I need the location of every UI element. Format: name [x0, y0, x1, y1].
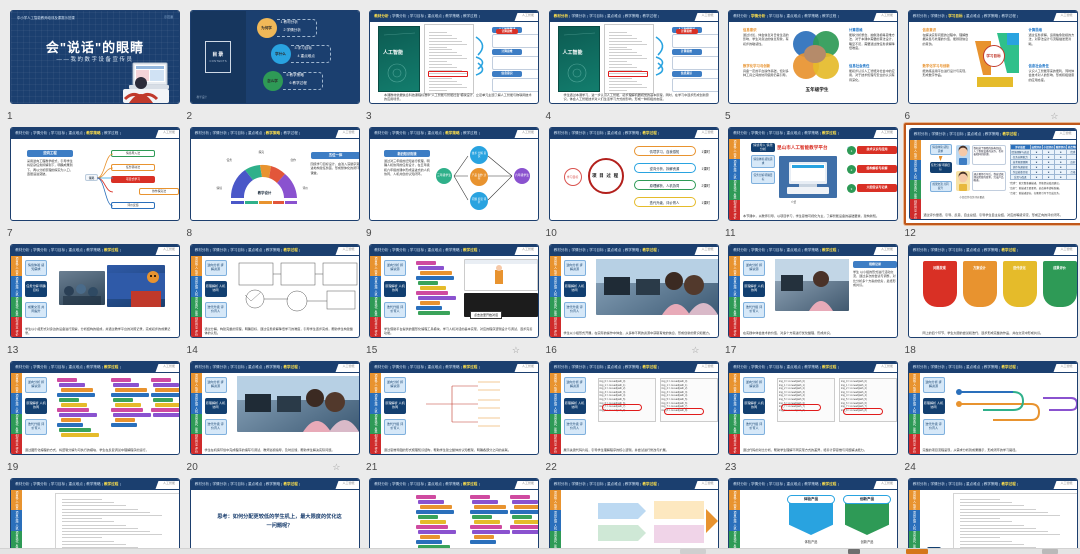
- tab-2[interactable]: 学习目标: [229, 132, 247, 136]
- scratch-block-far-2[interactable]: [155, 388, 180, 392]
- two-card-1[interactable]: [845, 501, 889, 535]
- tab-3[interactable]: 重点难点: [67, 132, 85, 136]
- tab-3[interactable]: 重点难点: [606, 483, 624, 487]
- tab-1[interactable]: 学情分析: [391, 15, 409, 19]
- tab-4[interactable]: 教学策略: [85, 132, 103, 136]
- tab-3[interactable]: 重点难点: [67, 249, 85, 253]
- slide-cell-3[interactable]: 教材分析学情分析学习目标重点难点教学策略教学过程人工智能人工智能人工智能概述计算…: [365, 6, 543, 124]
- platform-side-card-2[interactable]: 大胆尝试与记录: [857, 184, 897, 192]
- tab-2[interactable]: 学习目标: [409, 15, 427, 19]
- slide-cell-28[interactable]: 教材分析学情分析学习目标重点难点教学策略教学过程人工智能项目导入 情景分析项目实…: [545, 474, 723, 554]
- stage-card-1[interactable]: 原理解析 人机协同: [564, 398, 586, 414]
- toc-bubble-2[interactable]: 怎么学: [263, 71, 283, 91]
- tab-4[interactable]: 教学策略: [803, 483, 821, 487]
- project-row-3[interactable]: 迭代升级，评价育人: [634, 197, 696, 207]
- tab-1[interactable]: 学情分析: [750, 249, 768, 253]
- tab-0[interactable]: 教材分析: [194, 483, 212, 487]
- scratch-block-far-4[interactable]: [512, 515, 532, 519]
- slide-cell-8[interactable]: 教材分析学情分析学习目标重点难点教学策略教学过程人工智能教学设计情境任务探究创作…: [186, 123, 364, 241]
- scratch-block-right-8[interactable]: [474, 535, 494, 539]
- tab-4[interactable]: 教学策略: [265, 249, 283, 253]
- tab-0[interactable]: 教材分析: [14, 483, 32, 487]
- tab-1[interactable]: 学情分析: [929, 249, 947, 253]
- tab-2[interactable]: 学习目标: [768, 483, 786, 487]
- stage-rail-item-3[interactable]: 创作共享 评价育人: [11, 434, 22, 454]
- four-card-2[interactable]: 迭代优化: [1003, 261, 1037, 307]
- tab-1[interactable]: 学情分析: [929, 15, 947, 19]
- dialog-stage-third[interactable]: 成果交流 共同提升: [930, 181, 952, 192]
- stage-rail-item-2[interactable]: 项目迭代 反思升华: [191, 297, 202, 317]
- stage-card-2[interactable]: 迭代升级 评价育人: [923, 419, 945, 435]
- tab-2[interactable]: 学习目标: [588, 132, 606, 136]
- tab-0[interactable]: 教材分析: [732, 132, 750, 136]
- tab-5[interactable]: 教学过程: [1000, 15, 1018, 19]
- stage-rail-item-2[interactable]: 项目迭代 反思升华: [550, 297, 561, 317]
- slide-thumbnail-19[interactable]: 教材分析学情分析学习目标重点难点教学策略教学过程人工智能项目导入 情景分析项目实…: [6, 357, 184, 459]
- textbook-callout-2[interactable]: 信息意识: [492, 71, 522, 77]
- stage-rail-item-3[interactable]: 创作共享 评价育人: [909, 434, 920, 454]
- stage-rail-item-2[interactable]: 项目迭代 反思升华: [370, 297, 381, 317]
- stage-card-0[interactable]: 逆向分析 拆解资源: [205, 260, 227, 276]
- tab-3[interactable]: 重点难点: [606, 366, 624, 370]
- tab-4[interactable]: 教学策略: [984, 133, 1002, 137]
- tab-1[interactable]: 学情分析: [211, 249, 229, 253]
- scratch-block-8[interactable]: [420, 301, 440, 305]
- scratch-block-2[interactable]: [61, 388, 93, 392]
- tab-4[interactable]: 教学策略: [983, 483, 1001, 487]
- tab-2[interactable]: 学习目标: [229, 249, 247, 253]
- tab-1[interactable]: 学情分析: [32, 132, 50, 136]
- stage-rail-item-0[interactable]: 项目导入 情景分析: [729, 139, 740, 159]
- tab-4[interactable]: 教学策略: [265, 483, 283, 487]
- stage-card-0[interactable]: 逆向分析 拆解资源: [384, 377, 406, 393]
- stage-card-1[interactable]: 原理解析 人机协同: [743, 281, 765, 297]
- slide-cell-5[interactable]: 教材分析学情分析学习目标重点难点教学策略教学过程人工智能五年级学生信息意识通过讨…: [724, 6, 902, 124]
- stage-rail-item-2[interactable]: 项目迭代 反思升华: [550, 414, 561, 434]
- tab-2[interactable]: 学习目标: [409, 132, 427, 136]
- stage-rail-item-1[interactable]: 项目实施 人机协同: [370, 393, 381, 413]
- tab-5[interactable]: 教学过程: [821, 15, 839, 19]
- stage-rail-item-1[interactable]: 项目实施 人机协同: [729, 159, 740, 179]
- scratch-block-8[interactable]: [61, 418, 81, 422]
- mind-node-4[interactable]: 评价反馈: [111, 202, 155, 209]
- stage-rail-item-1[interactable]: 项目实施 人机协同: [550, 393, 561, 413]
- toc-bubble-1[interactable]: 学什么: [271, 44, 291, 64]
- slide-thumbnail-22[interactable]: 教材分析学情分析学习目标重点难点教学策略教学过程人工智能项目导入 情景分析项目实…: [545, 357, 723, 459]
- scratch-block-10[interactable]: [59, 428, 91, 432]
- tab-4[interactable]: 教学策略: [265, 132, 283, 136]
- scratch-block-10[interactable]: [418, 311, 450, 315]
- slide-thumbnail-14[interactable]: 教材分析学情分析学习目标重点难点教学策略教学过程人工智能项目导入 情景分析项目实…: [186, 240, 364, 342]
- scratch-block-5[interactable]: [61, 403, 87, 407]
- scratch-block-2[interactable]: [420, 271, 452, 275]
- stage-card-0[interactable]: 逆向分析 拆解资源: [923, 377, 945, 393]
- tab-4[interactable]: 教学策略: [624, 483, 642, 487]
- tab-3[interactable]: 重点难点: [965, 249, 983, 253]
- tab-5[interactable]: 教学过程: [462, 366, 480, 370]
- stage-rail-item-2[interactable]: 项目迭代 反思升华: [370, 414, 381, 434]
- stage-card-2[interactable]: 迭代升级 评价育人: [743, 302, 765, 318]
- tab-3[interactable]: 重点难点: [426, 366, 444, 370]
- stage-rail-item-0[interactable]: 项目导入 情景分析: [11, 373, 22, 393]
- tab-0[interactable]: 教材分析: [194, 132, 212, 136]
- tab-3[interactable]: 重点难点: [785, 366, 803, 370]
- tab-1[interactable]: 学情分析: [929, 366, 947, 370]
- tab-5[interactable]: 教学过程: [103, 132, 121, 136]
- scratch-block-right-3[interactable]: [111, 393, 149, 397]
- slide-thumbnail-17[interactable]: 教材分析学情分析学习目标重点难点教学策略教学过程人工智能项目导入 情景分析项目实…: [724, 240, 902, 342]
- tab-0[interactable]: 教材分析: [553, 366, 571, 370]
- tab-4[interactable]: 教学策略: [983, 15, 1001, 19]
- tab-5[interactable]: 教学过程: [641, 132, 659, 136]
- tab-0[interactable]: 教材分析: [14, 249, 32, 253]
- scratch-block-0[interactable]: [57, 378, 77, 382]
- tab-4[interactable]: 教学策略: [85, 249, 103, 253]
- slide-thumbnail-7[interactable]: 教材分析学情分析学习目标重点难点教学策略教学过程人工智能逆向工程采用逆向工程教学…: [6, 123, 184, 225]
- slide-thumbnail-12[interactable]: 教材分析学情分析学习目标重点难点教学策略教学过程人工智能项目导入 情景分析项目实…: [904, 123, 1080, 225]
- mind-node-3[interactable]: 协作探究法: [139, 188, 179, 195]
- mind-node-0[interactable]: 情境导入法: [111, 150, 155, 157]
- slide-cell-10[interactable]: 教材分析学情分析学习目标重点难点教学策略教学过程人工智能学习目标项 目 过 程情…: [545, 123, 723, 241]
- tab-3[interactable]: 重点难点: [426, 483, 444, 487]
- tab-5[interactable]: 教学过程: [641, 15, 659, 19]
- slide-cell-22[interactable]: 教材分析学情分析学习目标重点难点教学策略教学过程人工智能项目导入 情景分析项目实…: [545, 357, 723, 475]
- stage-rail-item-0[interactable]: 项目导入 情景分析: [11, 490, 22, 510]
- project-row-1[interactable]: 逆向分析，拆解资源: [634, 163, 696, 173]
- slide-cell-1[interactable]: 中小学人工智能教师培训及课赛示范课示范课会"说话"的眼睛——我的数字设备宣传员1: [6, 6, 184, 124]
- four-card-1[interactable]: 方案设计: [963, 261, 997, 307]
- slide-thumbnail-1[interactable]: 中小学人工智能教师培训及课赛示范课示范课会"说话"的眼睛——我的数字设备宣传员: [6, 6, 184, 108]
- scratch-block-right-7[interactable]: [113, 413, 151, 417]
- star-icon[interactable]: ☆: [332, 463, 340, 472]
- tab-3[interactable]: 重点难点: [426, 15, 444, 19]
- tab-5[interactable]: 教学过程: [462, 132, 480, 136]
- stage-rail-item-0[interactable]: 项目导入 情景分析: [370, 256, 381, 276]
- slide-cell-6[interactable]: 教材分析学情分析学习目标重点难点教学策略教学过程人工智能学习目标信息意识在解决实…: [904, 6, 1080, 124]
- tab-1[interactable]: 学情分析: [570, 366, 588, 370]
- tab-3[interactable]: 重点难点: [606, 132, 624, 136]
- scratch-block-right-9[interactable]: [111, 423, 137, 427]
- tab-5[interactable]: 教学过程: [282, 132, 300, 136]
- slide-cell-24[interactable]: 教材分析学情分析学习目标重点难点教学策略教学过程人工智能项目导入 情景分析项目实…: [904, 357, 1080, 475]
- tab-2[interactable]: 学习目标: [768, 132, 786, 136]
- scratch-block-4[interactable]: [418, 281, 438, 285]
- stage-rail-item-3[interactable]: 创作共享 评价育人: [550, 317, 561, 337]
- stage-rail-item-0[interactable]: 项目导入 情景分析: [910, 140, 921, 160]
- tab-0[interactable]: 教材分析: [553, 249, 571, 253]
- slide-cell-27[interactable]: 教材分析学情分析学习目标重点难点教学策略教学过程人工智能通过分组讨论、协作编程，…: [365, 474, 543, 554]
- scratch-block-right-0[interactable]: [111, 378, 131, 382]
- slide-cell-20[interactable]: 教材分析学情分析学习目标重点难点教学策略教学过程人工智能项目导入 情景分析项目实…: [186, 357, 364, 475]
- stage-rail-item-2[interactable]: 项目迭代 反思升华: [191, 414, 202, 434]
- tab-1[interactable]: 学情分析: [750, 483, 768, 487]
- tab-5[interactable]: 教学过程: [462, 249, 480, 253]
- project-row-0[interactable]: 情境学习，自我感知: [634, 146, 696, 156]
- tab-2[interactable]: 学习目标: [768, 366, 786, 370]
- scratch-block-0[interactable]: [416, 495, 436, 499]
- stage-rail-item-3[interactable]: 创作共享 评价育人: [910, 199, 921, 219]
- tab-4[interactable]: 教学策略: [803, 132, 821, 136]
- scratch-block-right-2[interactable]: [115, 388, 147, 392]
- tab-0[interactable]: 教材分析: [553, 132, 571, 136]
- tab-2[interactable]: 学习目标: [50, 132, 68, 136]
- stage-rail-item-0[interactable]: 项目导入 情景分析: [550, 490, 561, 510]
- slide-cell-23[interactable]: 教材分析学情分析学习目标重点难点教学策略教学过程人工智能项目导入 情景分析项目实…: [724, 357, 902, 475]
- slide-thumbnail-24[interactable]: 教材分析学情分析学习目标重点难点教学策略教学过程人工智能项目导入 情景分析项目实…: [904, 357, 1080, 459]
- scratch-block-9[interactable]: [416, 306, 442, 310]
- stage-rail-item-0[interactable]: 项目导入 情景分析: [729, 373, 740, 393]
- slide-cell-21[interactable]: 教材分析学情分析学习目标重点难点教学策略教学过程人工智能项目导入 情景分析项目实…: [365, 357, 543, 475]
- tab-2[interactable]: 学习目标: [229, 483, 247, 487]
- scratch-block-far-5[interactable]: [514, 520, 539, 524]
- slide-thumbnail-11[interactable]: 教材分析学情分析学习目标重点难点教学策略教学过程人工智能项目导入 情景分析项目实…: [724, 123, 902, 225]
- tab-4[interactable]: 教学策略: [85, 483, 103, 487]
- platform-stage-badge[interactable]: 情境导入 情景分析: [751, 143, 775, 152]
- tab-5[interactable]: 教学过程: [1001, 133, 1019, 137]
- scratch-block-right-1[interactable]: [472, 500, 498, 504]
- tab-0[interactable]: 教材分析: [14, 132, 32, 136]
- stage-card-0[interactable]: 逆向分析 拆解资源: [25, 377, 47, 393]
- tab-2[interactable]: 学习目标: [948, 133, 966, 137]
- stage-card-0[interactable]: 逆向分析 拆解资源: [743, 377, 765, 393]
- tab-4[interactable]: 教学策略: [444, 15, 462, 19]
- stage-rail-item-3[interactable]: 创作共享 评价育人: [729, 317, 740, 337]
- scratch-block-right-5[interactable]: [474, 520, 500, 524]
- stage-rail-item-1[interactable]: 项目实施 人机协同: [370, 276, 381, 296]
- tab-2[interactable]: 学习目标: [947, 483, 965, 487]
- slide-thumbnail-20[interactable]: 教材分析学情分析学习目标重点难点教学策略教学过程人工智能项目导入 情景分析项目实…: [186, 357, 364, 459]
- taskbar-item-1[interactable]: [680, 549, 706, 554]
- slide-cell-26[interactable]: 教材分析学情分析学习目标重点难点教学策略教学过程人工智能思考：如何分配更较低的学…: [186, 474, 364, 554]
- scratch-block-7[interactable]: [418, 296, 456, 300]
- stage-rail-item-2[interactable]: 项目迭代 反思升华: [729, 297, 740, 317]
- tab-3[interactable]: 重点难点: [247, 132, 265, 136]
- scratch-block-far-1[interactable]: [512, 500, 538, 504]
- stage-card-2[interactable]: 迭代升级 评价育人: [25, 419, 47, 435]
- tab-5[interactable]: 教学过程: [821, 483, 839, 487]
- tab-5[interactable]: 教学过程: [641, 483, 659, 487]
- stage-card-0[interactable]: 逆向分析 拆解资源: [205, 377, 227, 393]
- tab-3[interactable]: 重点难点: [965, 15, 983, 19]
- tab-5[interactable]: 教学过程: [282, 483, 300, 487]
- stage-rail-item-1[interactable]: 项目实施 人机协同: [11, 276, 22, 296]
- slide-cell-16[interactable]: 教材分析学情分析学习目标重点难点教学策略教学过程人工智能项目导入 情景分析项目实…: [545, 240, 723, 358]
- scratch-block-3[interactable]: [416, 510, 454, 514]
- stage-rail-item-1[interactable]: 项目实施 人机协同: [550, 510, 561, 530]
- slide-cell-14[interactable]: 教材分析学情分析学习目标重点难点教学策略教学过程人工智能项目导入 情景分析项目实…: [186, 240, 364, 358]
- stage-rail-item-2[interactable]: 项目迭代 反思升华: [11, 414, 22, 434]
- textbook-callout-2[interactable]: 信息意识: [672, 71, 702, 77]
- scratch-block-far-7[interactable]: [153, 413, 180, 417]
- stage-rail-item-1[interactable]: 项目实施 人机协同: [729, 393, 740, 413]
- tab-1[interactable]: 学情分析: [32, 483, 50, 487]
- tab-3[interactable]: 重点难点: [606, 15, 624, 19]
- scratch-block-right-6[interactable]: [470, 525, 502, 529]
- stage-rail-item-2[interactable]: 项目迭代 反思升华: [729, 180, 740, 200]
- scratch-block-far-5[interactable]: [155, 403, 180, 407]
- stage-rail-item-3[interactable]: 创作共享 评价育人: [11, 317, 22, 337]
- tab-3[interactable]: 重点难点: [965, 366, 983, 370]
- tab-4[interactable]: 教学策略: [444, 483, 462, 487]
- slide-thumbnail-8[interactable]: 教材分析学情分析学习目标重点难点教学策略教学过程人工智能教学设计情境任务探究创作…: [186, 123, 364, 225]
- taskbar[interactable]: [0, 548, 1080, 554]
- scratch-block-7[interactable]: [418, 530, 456, 534]
- tab-4[interactable]: 教学策略: [803, 249, 821, 253]
- tab-0[interactable]: 教材分析: [194, 366, 212, 370]
- tab-3[interactable]: 重点难点: [426, 132, 444, 136]
- scratch-block-far-3[interactable]: [151, 393, 180, 397]
- tab-2[interactable]: 学习目标: [229, 366, 247, 370]
- tab-1[interactable]: 学情分析: [750, 132, 768, 136]
- scratch-block-11[interactable]: [61, 433, 99, 437]
- tab-0[interactable]: 教材分析: [553, 15, 571, 19]
- stage-rail-item-3[interactable]: 创作共享 评价育人: [729, 434, 740, 454]
- tab-2[interactable]: 学习目标: [947, 249, 965, 253]
- tab-3[interactable]: 重点难点: [67, 366, 85, 370]
- scratch-block-right-7[interactable]: [472, 530, 510, 534]
- scratch-block-right-4[interactable]: [472, 515, 492, 519]
- tab-0[interactable]: 教材分析: [373, 366, 391, 370]
- stage-rail-item-0[interactable]: 项目导入 情景分析: [909, 373, 920, 393]
- stage-card-2[interactable]: 迭代升级 评价育人: [205, 302, 227, 318]
- stage-card-1[interactable]: 原理解析 人机协同: [743, 398, 765, 414]
- tab-3[interactable]: 重点难点: [426, 249, 444, 253]
- tab-0[interactable]: 教材分析: [912, 483, 930, 487]
- stage-rail-item-1[interactable]: 项目实施 人机协同: [729, 276, 740, 296]
- taskbar-item-3[interactable]: [906, 549, 928, 554]
- slide-cell-4[interactable]: 教材分析学情分析学习目标重点难点教学策略教学过程人工智能人工智能人工智能概述计算…: [545, 6, 723, 124]
- stage-card-0[interactable]: 情境体验 感知需求: [25, 260, 47, 276]
- tab-1[interactable]: 学情分析: [391, 249, 409, 253]
- slide-thumbnail-5[interactable]: 教材分析学情分析学习目标重点难点教学策略教学过程人工智能五年级学生信息意识通过讨…: [724, 6, 902, 108]
- slide-cell-7[interactable]: 教材分析学情分析学习目标重点难点教学策略教学过程人工智能逆向工程采用逆向工程教学…: [6, 123, 184, 241]
- tab-0[interactable]: 教材分析: [373, 15, 391, 19]
- tab-5[interactable]: 教学过程: [282, 249, 300, 253]
- flow-left-node[interactable]: 三年级学生: [436, 168, 452, 184]
- tab-2[interactable]: 学习目标: [50, 249, 68, 253]
- tab-5[interactable]: 教学过程: [1000, 483, 1018, 487]
- tab-2[interactable]: 学习目标: [947, 366, 965, 370]
- slide-cell-12[interactable]: 教材分析学情分析学习目标重点难点教学策略教学过程人工智能项目导入 情景分析项目实…: [904, 123, 1080, 241]
- slide-thumbnail-30[interactable]: 教材分析学情分析学习目标重点难点教学策略教学过程人工智能项目导入 情景分析项目实…: [904, 474, 1080, 554]
- tab-4[interactable]: 教学策略: [803, 15, 821, 19]
- tab-0[interactable]: 教材分析: [732, 483, 750, 487]
- tab-0[interactable]: 教材分析: [373, 132, 391, 136]
- mind-node-1[interactable]: 任务驱动法: [111, 164, 155, 171]
- slide-thumbnail-10[interactable]: 教材分析学情分析学习目标重点难点教学策略教学过程人工智能学习目标项 目 过 程情…: [545, 123, 723, 225]
- tab-2[interactable]: 学习目标: [409, 483, 427, 487]
- slide-thumbnail-15[interactable]: 教材分析学情分析学习目标重点难点教学策略教学过程人工智能项目导入 情景分析项目实…: [365, 240, 543, 342]
- stage-rail-item-3[interactable]: 创作共享 评价育人: [370, 434, 381, 454]
- four-card-0[interactable]: 问题发现: [923, 261, 957, 307]
- flow-node-2[interactable]: 问题 反思 评价: [470, 192, 488, 210]
- taskbar-item-2[interactable]: [848, 549, 860, 554]
- slide-thumbnail-9[interactable]: 教材分析学情分析学习目标重点难点教学策略教学过程人工智能新旧知识衔接通过对三年级…: [365, 123, 543, 225]
- tab-0[interactable]: 教材分析: [912, 366, 930, 370]
- tab-4[interactable]: 教学策略: [983, 249, 1001, 253]
- tab-1[interactable]: 学情分析: [570, 132, 588, 136]
- tab-1[interactable]: 学情分析: [391, 483, 409, 487]
- tab-3[interactable]: 重点难点: [965, 483, 983, 487]
- stage-rail-item-2[interactable]: 项目迭代 反思升华: [729, 414, 740, 434]
- slide-cell-30[interactable]: 教材分析学情分析学习目标重点难点教学策略教学过程人工智能项目导入 情景分析项目实…: [904, 474, 1080, 554]
- tab-4[interactable]: 教学策略: [624, 366, 642, 370]
- slide-cell-15[interactable]: 教材分析学情分析学习目标重点难点教学策略教学过程人工智能项目导入 情景分析项目实…: [365, 240, 543, 358]
- stage-rail-item-2[interactable]: 项目迭代 反思升华: [11, 297, 22, 317]
- slide-cell-25[interactable]: 教材分析学情分析学习目标重点难点教学策略教学过程人工智能项目导入 情景分析项目实…: [6, 474, 184, 554]
- scratch-block-far-1[interactable]: [153, 383, 179, 387]
- tab-4[interactable]: 教学策略: [85, 366, 103, 370]
- tab-0[interactable]: 教材分析: [732, 366, 750, 370]
- scratch-block-1[interactable]: [59, 383, 85, 387]
- scratch-block-far-3[interactable]: [510, 510, 539, 514]
- scratch-block-far-7[interactable]: [512, 530, 539, 534]
- tab-3[interactable]: 重点难点: [247, 366, 265, 370]
- slide-thumbnail-18[interactable]: 教材分析学情分析学习目标重点难点教学策略教学过程人工智能问题发现方案设计迭代优化…: [904, 240, 1080, 342]
- slide-cell-17[interactable]: 教材分析学情分析学习目标重点难点教学策略教学过程人工智能项目导入 情景分析项目实…: [724, 240, 902, 358]
- stage-rail-item-0[interactable]: 项目导入 情景分析: [11, 256, 22, 276]
- textbook-red-label[interactable]: 计算思维: [676, 29, 698, 34]
- dialog-stage-badge[interactable]: 情境体验 感知需求: [930, 144, 952, 155]
- slide-cell-11[interactable]: 教材分析学情分析学习目标重点难点教学策略教学过程人工智能项目导入 情景分析项目实…: [724, 123, 902, 241]
- tab-3[interactable]: 重点难点: [785, 483, 803, 487]
- textbook-callout-1[interactable]: 计算思维: [672, 49, 702, 55]
- stage-rail-item-0[interactable]: 项目导入 情景分析: [729, 256, 740, 276]
- slide-thumbnail-26[interactable]: 教材分析学情分析学习目标重点难点教学策略教学过程人工智能思考：如何分配更较低的学…: [186, 474, 364, 554]
- tab-4[interactable]: 教学策略: [444, 249, 462, 253]
- stage-card-1[interactable]: 原理解析 人机协同: [564, 281, 586, 297]
- stage-rail-item-1[interactable]: 项目实施 人机协同: [191, 393, 202, 413]
- scratch-block-9[interactable]: [416, 540, 442, 544]
- tab-4[interactable]: 教学策略: [624, 15, 642, 19]
- scratch-block-right-4[interactable]: [113, 398, 133, 402]
- tab-2[interactable]: 学习目标: [588, 15, 606, 19]
- star-icon[interactable]: ☆: [691, 346, 699, 355]
- slide-thumbnail-21[interactable]: 教材分析学情分析学习目标重点难点教学策略教学过程人工智能项目导入 情景分析项目实…: [365, 357, 543, 459]
- scratch-block-1[interactable]: [418, 266, 444, 270]
- tab-1[interactable]: 学情分析: [211, 132, 229, 136]
- stage-rail-item-0[interactable]: 项目导入 情景分析: [729, 490, 740, 510]
- tab-0[interactable]: 教材分析: [553, 483, 571, 487]
- tab-3[interactable]: 重点难点: [67, 483, 85, 487]
- tab-3[interactable]: 重点难点: [247, 249, 265, 253]
- scratch-block-far-0[interactable]: [510, 495, 530, 499]
- stage-rail-item-1[interactable]: 项目实施 人机协同: [909, 393, 920, 413]
- tab-2[interactable]: 学习目标: [409, 249, 427, 253]
- stage-rail-item-0[interactable]: 项目导入 情景分析: [550, 373, 561, 393]
- tab-2[interactable]: 学习目标: [409, 366, 427, 370]
- scratch-block-right-8[interactable]: [115, 418, 135, 422]
- flow-node-0[interactable]: 技术 分解 意识: [470, 146, 488, 164]
- slide-thumbnail-23[interactable]: 教材分析学情分析学习目标重点难点教学策略教学过程人工智能项目导入 情景分析项目实…: [724, 357, 902, 459]
- stage-card-2[interactable]: 迭代升级 评价育人: [384, 302, 406, 318]
- tab-1[interactable]: 学情分析: [750, 366, 768, 370]
- scratch-block-9[interactable]: [57, 423, 83, 427]
- tab-3[interactable]: 重点难点: [785, 249, 803, 253]
- scratch-block-far-6[interactable]: [510, 525, 539, 529]
- scratch-block-right-6[interactable]: [111, 408, 143, 412]
- tab-0[interactable]: 教材分析: [14, 366, 32, 370]
- stage-rail-item-3[interactable]: 创作共享 评价育人: [370, 317, 381, 337]
- scratch-block-right-2[interactable]: [474, 505, 506, 509]
- tab-4[interactable]: 教学策略: [803, 366, 821, 370]
- slide-cell-18[interactable]: 教材分析学情分析学习目标重点难点教学策略教学过程人工智能问题发现方案设计迭代优化…: [904, 240, 1080, 358]
- tab-4[interactable]: 教学策略: [444, 366, 462, 370]
- flow-node-1[interactable]: 产品 制作 过程: [470, 168, 488, 186]
- tab-1[interactable]: 学情分析: [929, 483, 947, 487]
- tab-4[interactable]: 教学策略: [624, 249, 642, 253]
- slide-thumbnail-29[interactable]: 教材分析学情分析学习目标重点难点教学策略教学过程人工智能项目导入 情景分析项目实…: [724, 474, 902, 554]
